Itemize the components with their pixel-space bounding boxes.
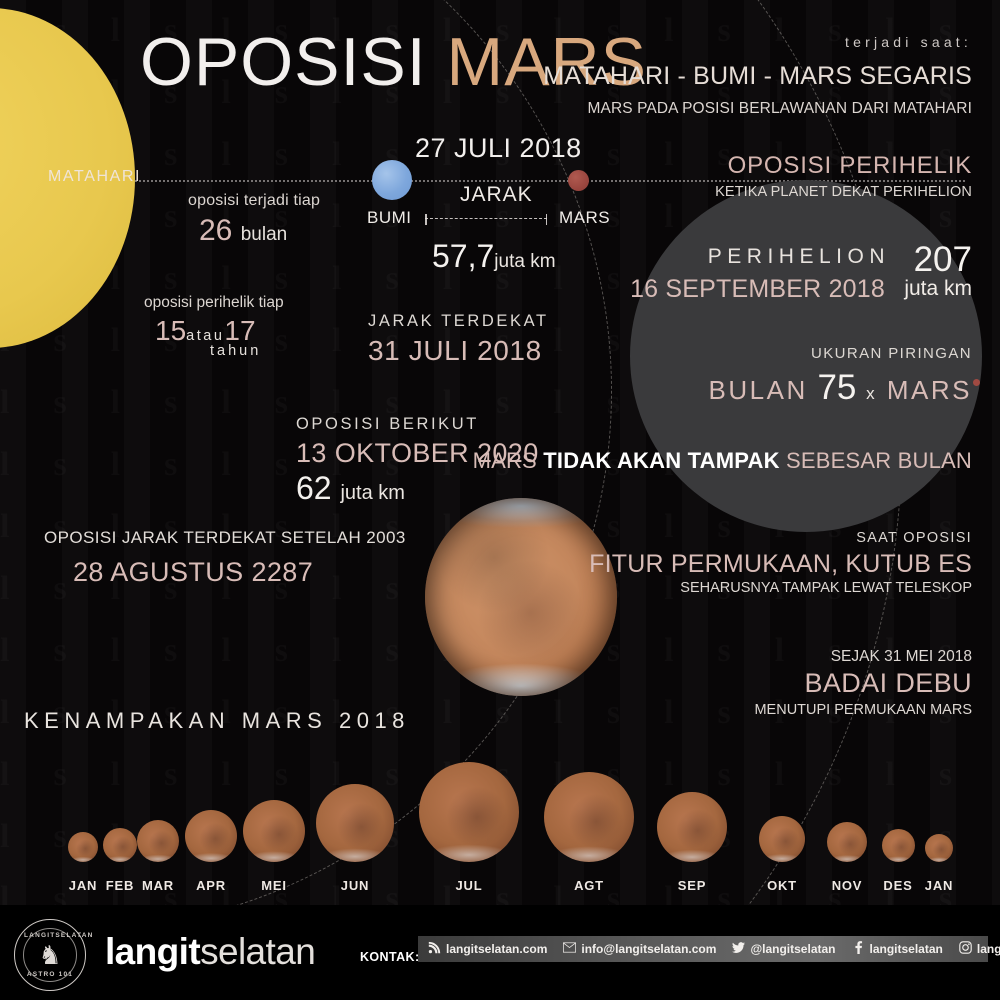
mars-telescope-image xyxy=(425,498,617,696)
opposition-date: 27 JULI 2018 xyxy=(415,133,582,164)
perihelion-distance-unit: juta km xyxy=(904,277,972,301)
month-label-6: JUL xyxy=(456,878,483,893)
surface-kicker: SAAT OPOSISI xyxy=(856,530,972,546)
next-opposition-distance: 62 juta km xyxy=(296,470,405,507)
mars-apparent-size-series xyxy=(0,760,1000,870)
contact-text-4: langitselatanmedia xyxy=(977,942,1000,956)
next-distance-number: 62 xyxy=(296,470,332,506)
contact-item-3[interactable]: langitselatan xyxy=(852,941,943,957)
month-label-12: JAN xyxy=(925,878,953,893)
month-label-7: AGT xyxy=(574,878,604,893)
alignment-subline: MARS PADA POSISI BERLAWANAN DARI MATAHAR… xyxy=(588,100,973,118)
mars-disk-sep xyxy=(657,792,727,862)
month-label-2: MAR xyxy=(142,878,174,893)
brand-wordmark: langitselatan xyxy=(105,931,315,973)
alignment-headline: MATAHARI - BUMI - MARS SEGARIS xyxy=(543,62,972,91)
month-label-10: NOV xyxy=(832,878,863,893)
contact-text-3: langitselatan xyxy=(870,942,943,956)
perihelion-label: PERIHELION xyxy=(708,245,890,269)
month-label-3: APR xyxy=(196,878,226,893)
occurs-when-kicker: terjadi saat: xyxy=(845,34,972,50)
disk-size-comparison: BULAN 75 x MARS xyxy=(709,368,972,408)
perihelic-opposition-sub: KETIKA PLANET DEKAT PERIHELION xyxy=(715,184,972,200)
series-heading: KENAMPAKAN MARS 2018 xyxy=(24,708,410,734)
logo-inner-ring: ♞ LANGITSELATAN ASTRO 101 xyxy=(23,928,77,982)
earth-label: BUMI xyxy=(367,208,412,228)
title-word-oposisi: OPOSISI xyxy=(140,24,427,100)
brand-part-selatan: selatan xyxy=(200,931,315,972)
earth-planet-icon xyxy=(372,160,412,200)
mars-disk-des xyxy=(882,829,915,862)
interval-number: 26 xyxy=(199,214,232,247)
infographic-poster: lslslslslslslslslslslslslslslslslslslsls… xyxy=(0,0,1000,1000)
mars-disk-apr xyxy=(185,810,237,862)
mars-disk-jan xyxy=(925,834,953,862)
disk-size-label: UKURAN PIRINGAN xyxy=(811,345,972,362)
contact-text-1: info@langitselatan.com xyxy=(581,942,716,956)
twitter-icon xyxy=(732,941,745,957)
distance-measure-arrow xyxy=(425,218,547,219)
month-label-5: JUN xyxy=(341,878,369,893)
notbig-part1: MARS xyxy=(473,448,544,473)
contact-item-4[interactable]: langitselatanmedia xyxy=(959,941,1000,957)
closest-distance-date: 31 JULI 2018 xyxy=(368,335,542,367)
instagram-icon xyxy=(959,941,972,957)
distance-value: 57,7juta km xyxy=(432,238,556,275)
perihelic-conjunction: atau xyxy=(186,328,224,344)
distance-unit: juta km xyxy=(494,251,555,272)
perihelic-number-1: 15 xyxy=(155,315,186,346)
mars-not-as-big-statement: MARS TIDAK AKAN TAMPAK SEBESAR BULAN xyxy=(473,448,972,474)
distance-word: JARAK xyxy=(460,183,533,207)
contact-item-1[interactable]: info@langitselatan.com xyxy=(563,941,716,957)
record-opposition-date: 28 AGUSTUS 2287 xyxy=(73,557,313,588)
month-label-4: MEI xyxy=(261,878,287,893)
perihelic-interval-label: oposisi perihelik tiap xyxy=(144,294,284,312)
surface-title: FITUR PERMUKAAN, KUTUB ES xyxy=(589,550,972,579)
brand-part-langit: langit xyxy=(105,931,200,972)
closest-distance-label: JARAK TERDEKAT xyxy=(368,312,549,331)
tiny-mars-dot-icon xyxy=(973,379,980,386)
mars-disk-jul xyxy=(419,762,519,862)
mars-disk-mei xyxy=(243,800,305,862)
perihelion-date: 16 SEPTEMBER 2018 xyxy=(630,275,885,304)
logo-top-text: LANGITSELATAN xyxy=(24,932,76,939)
perihelion-distance-value: 207 xyxy=(914,240,972,280)
next-distance-unit: juta km xyxy=(340,482,404,504)
contact-item-2[interactable]: @langitselatan xyxy=(732,941,835,957)
mars-planet-icon xyxy=(568,170,589,191)
month-label-9: OKT xyxy=(767,878,797,893)
month-label-11: DES xyxy=(883,878,912,893)
langitselatan-logo: ♞ LANGITSELATAN ASTRO 101 xyxy=(14,919,86,991)
contact-text-0: langitselatan.com xyxy=(446,942,547,956)
mars-disk-agt xyxy=(544,772,634,862)
perihelic-opposition-title: OPOSISI PERIHELIK xyxy=(728,152,972,180)
next-opposition-label: OPOSISI BERIKUT xyxy=(296,415,479,434)
horse-rider-icon: ♞ xyxy=(38,942,61,968)
storm-title: BADAI DEBU xyxy=(804,668,972,699)
mars-disk-feb xyxy=(103,828,137,862)
storm-sub: MENUTUPI PERMUKAAN MARS xyxy=(754,702,972,718)
contact-bar: langitselatan.cominfo@langitselatan.com@… xyxy=(418,936,988,962)
month-label-8: SEP xyxy=(678,878,706,893)
mars-disk-okt xyxy=(759,816,805,862)
contact-text-2: @langitselatan xyxy=(750,942,835,956)
month-label-0: JAN xyxy=(69,878,97,893)
disk-moon-label: BULAN xyxy=(709,375,808,405)
disk-factor: 75 xyxy=(817,368,856,407)
interval-unit: bulan xyxy=(241,224,288,245)
disk-mars-label: MARS xyxy=(887,375,972,405)
mars-label: MARS xyxy=(559,208,610,228)
rss-icon xyxy=(428,941,441,957)
storm-kicker: SEJAK 31 MEI 2018 xyxy=(831,648,972,666)
contact-item-0[interactable]: langitselatan.com xyxy=(428,941,547,957)
perihelic-number-2: 17 xyxy=(224,315,255,346)
facebook-icon xyxy=(852,941,865,957)
envelope-icon xyxy=(563,941,576,957)
perihelic-interval-unit: tahun xyxy=(210,343,261,359)
opposition-interval-label: oposisi terjadi tiap xyxy=(188,192,320,210)
mars-disk-jan xyxy=(68,832,98,862)
surface-sub: SEHARUSNYA TAMPAK LEWAT TELESKOP xyxy=(680,580,972,596)
notbig-part3: SEBESAR BULAN xyxy=(780,448,972,473)
month-label-1: FEB xyxy=(106,878,134,893)
logo-bottom-text: ASTRO 101 xyxy=(24,971,76,978)
mars-disk-jun xyxy=(316,784,394,862)
mars-disk-nov xyxy=(827,822,867,862)
distance-number: 57,7 xyxy=(432,238,494,274)
contact-label: KONTAK: xyxy=(360,950,420,964)
disk-times-symbol: x xyxy=(866,384,877,403)
record-opposition-label: OPOSISI JARAK TERDEKAT SETELAH 2003 xyxy=(44,528,406,548)
notbig-part2: TIDAK AKAN TAMPAK xyxy=(543,448,779,473)
alignment-line xyxy=(130,180,965,182)
mars-disk-mar xyxy=(137,820,179,862)
opposition-interval-value: 26 bulan xyxy=(199,214,287,248)
sun-label: MATAHARI xyxy=(48,168,141,186)
